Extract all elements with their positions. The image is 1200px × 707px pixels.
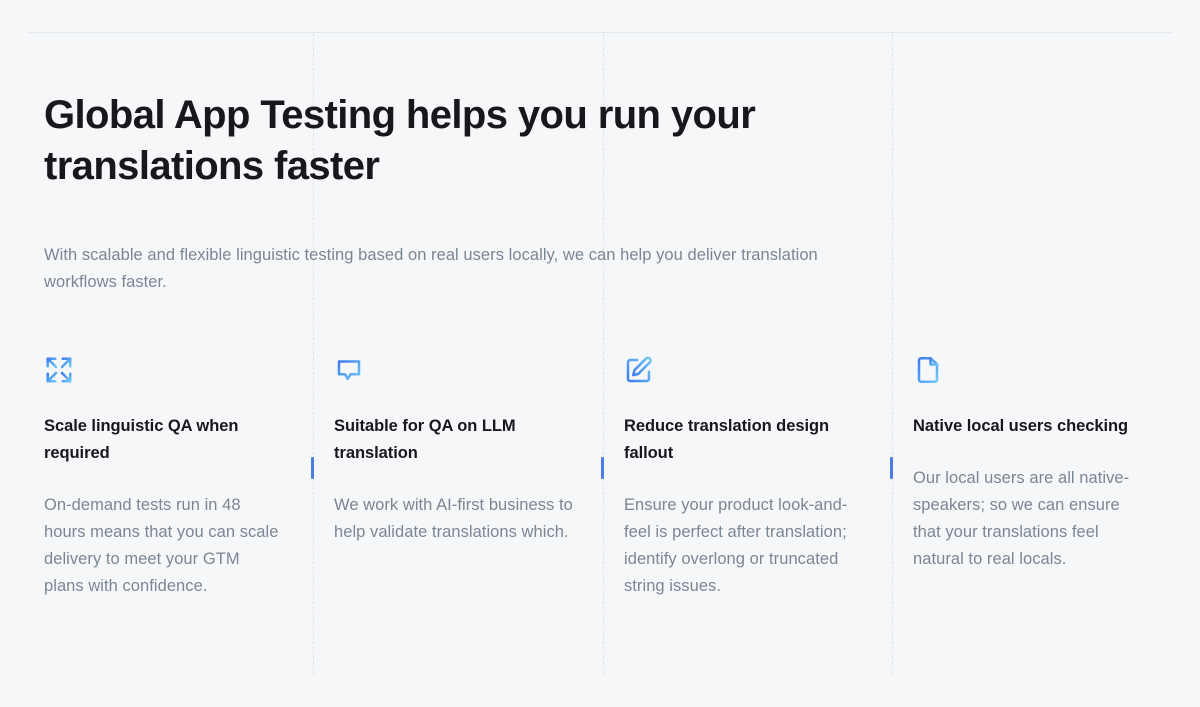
page-root: Global App Testing helps you run your tr… xyxy=(0,0,1200,707)
page-subtitle: With scalable and flexible linguistic te… xyxy=(44,242,874,296)
feature-title: Suitable for QA on LLM translation xyxy=(334,413,566,467)
feature-column-3: Reduce translation design fallout Ensure… xyxy=(603,355,892,600)
feature-body: On-demand tests run in 48 hours means th… xyxy=(44,492,283,600)
page-title: Global App Testing helps you run your tr… xyxy=(44,90,764,192)
section-content: Global App Testing helps you run your tr… xyxy=(44,33,1172,674)
accent-bar-3 xyxy=(601,457,604,479)
feature-column-4: Native local users checking Our local us… xyxy=(892,355,1172,600)
feature-body: Ensure your product look-and-feel is per… xyxy=(624,492,862,600)
feature-title: Native local users checking xyxy=(913,413,1142,440)
feature-column-2: Suitable for QA on LLM translation We wo… xyxy=(313,355,603,600)
expand-arrows-icon xyxy=(44,355,283,389)
feature-title: Scale linguistic QA when required xyxy=(44,413,276,467)
feature-column-list: Scale linguistic QA when required On-dem… xyxy=(44,355,1172,600)
edit-pencil-square-icon xyxy=(624,355,862,389)
document-file-icon xyxy=(913,355,1142,389)
speech-bubble-icon xyxy=(334,355,573,389)
feature-column-1: Scale linguistic QA when required On-dem… xyxy=(44,355,313,600)
feature-title: Reduce translation design fallout xyxy=(624,413,856,467)
accent-bar-4 xyxy=(890,457,893,479)
feature-body: Our local users are all native-speakers;… xyxy=(913,465,1142,573)
accent-bar-2 xyxy=(311,457,314,479)
feature-body: We work with AI-first business to help v… xyxy=(334,492,573,546)
